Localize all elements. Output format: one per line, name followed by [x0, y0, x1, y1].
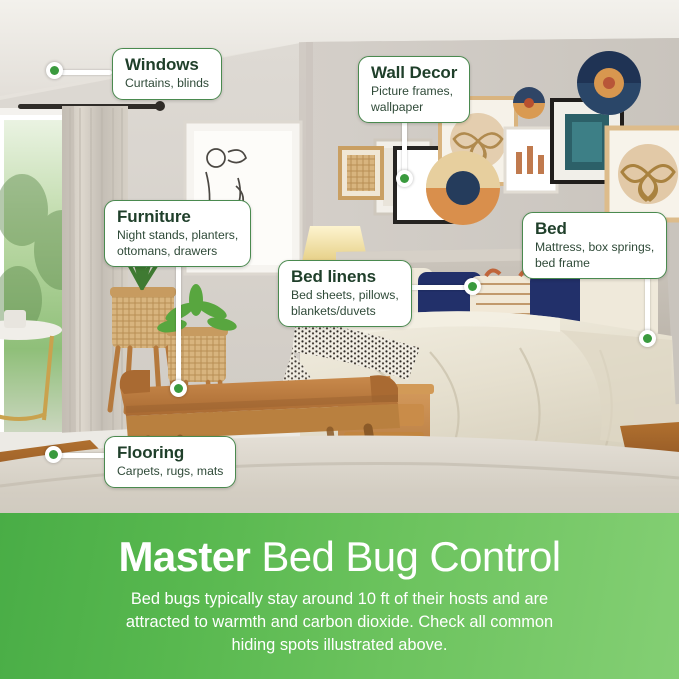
- banner-body-text: Bed bugs typically stay around 10 ft of …: [0, 588, 679, 658]
- connector-dot-bed: [639, 330, 656, 347]
- banner-title-bold: Master: [118, 533, 250, 580]
- connector-dot-bed-linens: [464, 278, 481, 295]
- callout-title: Flooring: [117, 443, 223, 463]
- connector-line-furniture: [176, 256, 181, 386]
- banner-title: Master Bed Bug Control: [0, 535, 679, 579]
- callout-bed-linens[interactable]: Bed linens Bed sheets, pillows, blankets…: [278, 260, 412, 327]
- callout-windows[interactable]: Windows Curtains, blinds: [112, 48, 222, 100]
- callout-flooring[interactable]: Flooring Carpets, rugs, mats: [104, 436, 236, 488]
- connector-dot-furniture: [170, 380, 187, 397]
- callout-subtitle: Carpets, rugs, mats: [117, 464, 223, 480]
- callout-title: Furniture: [117, 207, 238, 227]
- callout-subtitle: Mattress, box springs, bed frame: [535, 240, 654, 271]
- callout-wall-decor[interactable]: Wall Decor Picture frames, wallpaper: [358, 56, 470, 123]
- callout-furniture[interactable]: Furniture Night stands, planters, ottoma…: [104, 200, 251, 267]
- callout-title: Bed: [535, 219, 654, 239]
- bottom-banner: Master Bed Bug Control Bed bugs typicall…: [0, 513, 679, 679]
- connector-line-bed: [645, 274, 650, 336]
- callout-title: Windows: [125, 55, 209, 75]
- callout-subtitle: Curtains, blinds: [125, 76, 209, 92]
- callout-title: Wall Decor: [371, 63, 457, 83]
- infographic-root: Windows Curtains, blinds Wall Decor Pict…: [0, 0, 679, 679]
- callout-subtitle: Bed sheets, pillows, blankets/duvets: [291, 288, 399, 319]
- connector-line-bed-linens: [404, 285, 472, 290]
- banner-title-rest: Bed Bug Control: [250, 533, 560, 580]
- callout-subtitle: Picture frames, wallpaper: [371, 84, 457, 115]
- connector-dot-wall-decor: [396, 170, 413, 187]
- connector-dot-flooring: [45, 446, 62, 463]
- callout-bed[interactable]: Bed Mattress, box springs, bed frame: [522, 212, 667, 279]
- callout-title: Bed linens: [291, 267, 399, 287]
- connector-dot-windows: [46, 62, 63, 79]
- callout-subtitle: Night stands, planters, ottomans, drawer…: [117, 228, 238, 259]
